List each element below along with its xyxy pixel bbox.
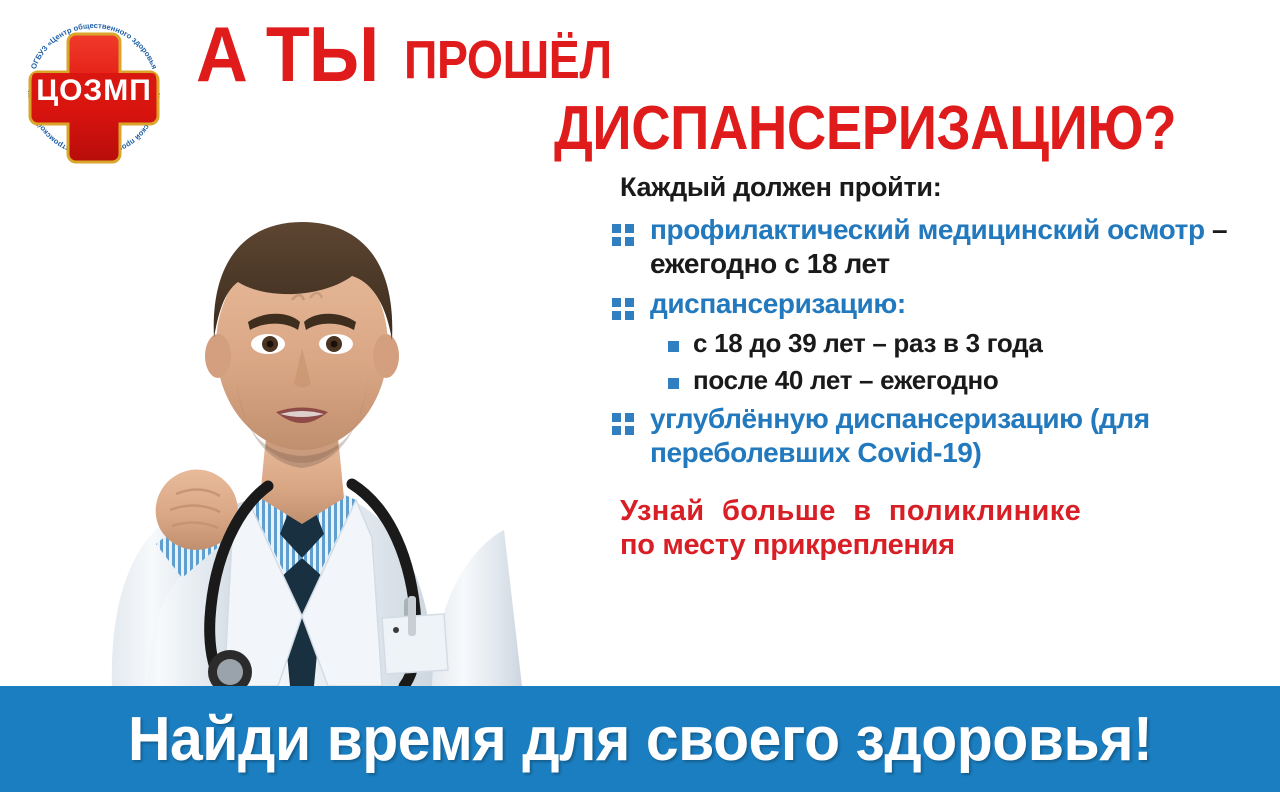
poster-title: А ТЫПРОШЁЛ ДИСПАНСЕРИЗАЦИЮ? <box>196 16 1266 160</box>
cta-line-1: Узнай больше в поликлинике <box>620 495 1272 528</box>
list-item-text: профилактический медицинский осмотр – еж… <box>650 213 1272 280</box>
sub-list-item: после 40 лет – ежегодно <box>668 365 1272 396</box>
lead-text: Каждый должен пройти: <box>620 172 1272 203</box>
content-column: Каждый должен пройти: профилактический м… <box>612 172 1272 562</box>
logo-acronym: ЦОЗМП <box>36 74 152 107</box>
grid-bullet-icon <box>612 287 634 320</box>
grid-bullet-icon <box>612 213 634 246</box>
list-item: диспансеризацию: <box>612 287 1272 321</box>
call-to-action: Узнай больше в поликлинике по месту прик… <box>620 495 1272 562</box>
square-bullet-icon <box>668 365 679 389</box>
list-item: профилактический медицинский осмотр – еж… <box>612 213 1272 280</box>
list-item-text-blue: углублённую диспансеризацию (для перебол… <box>650 403 1150 468</box>
footer-slogan: Найди время для своего здоровья! <box>128 704 1152 775</box>
sub-list: с 18 до 39 лет – раз в 3 года после 40 л… <box>668 328 1272 396</box>
list-item-text: диспансеризацию: <box>650 287 906 321</box>
title-word-aty: А ТЫ <box>196 16 378 92</box>
list-item-text-blue: диспансеризацию: <box>650 288 906 319</box>
title-line-1: А ТЫПРОШЁЛ <box>196 16 1266 92</box>
list-item-text: углублённую диспансеризацию (для перебол… <box>650 402 1272 469</box>
sub-list-item-text: с 18 до 39 лет – раз в 3 года <box>693 328 1043 359</box>
poster-root: ОГБУЗ «Центр общественного здоровья и ме… <box>0 0 1280 792</box>
sub-list-item: с 18 до 39 лет – раз в 3 года <box>668 328 1272 359</box>
footer-banner: Найди время для своего здоровья! <box>0 686 1280 792</box>
sub-list-item-text: после 40 лет – ежегодно <box>693 365 999 396</box>
cozmp-logo: ОГБУЗ «Центр общественного здоровья и ме… <box>14 10 174 170</box>
square-bullet-icon <box>668 328 679 352</box>
list-item-text-blue: профилактический медицинский осмотр <box>650 214 1205 245</box>
title-word-proshel: ПРОШЁЛ <box>404 34 612 87</box>
doctor-photo <box>52 178 552 686</box>
list-item: углублённую диспансеризацию (для перебол… <box>612 402 1272 469</box>
grid-bullet-icon <box>612 402 634 435</box>
title-line-2: ДИСПАНСЕРИЗАЦИЮ? <box>554 98 1181 160</box>
cta-line-2: по месту прикрепления <box>620 529 1272 562</box>
